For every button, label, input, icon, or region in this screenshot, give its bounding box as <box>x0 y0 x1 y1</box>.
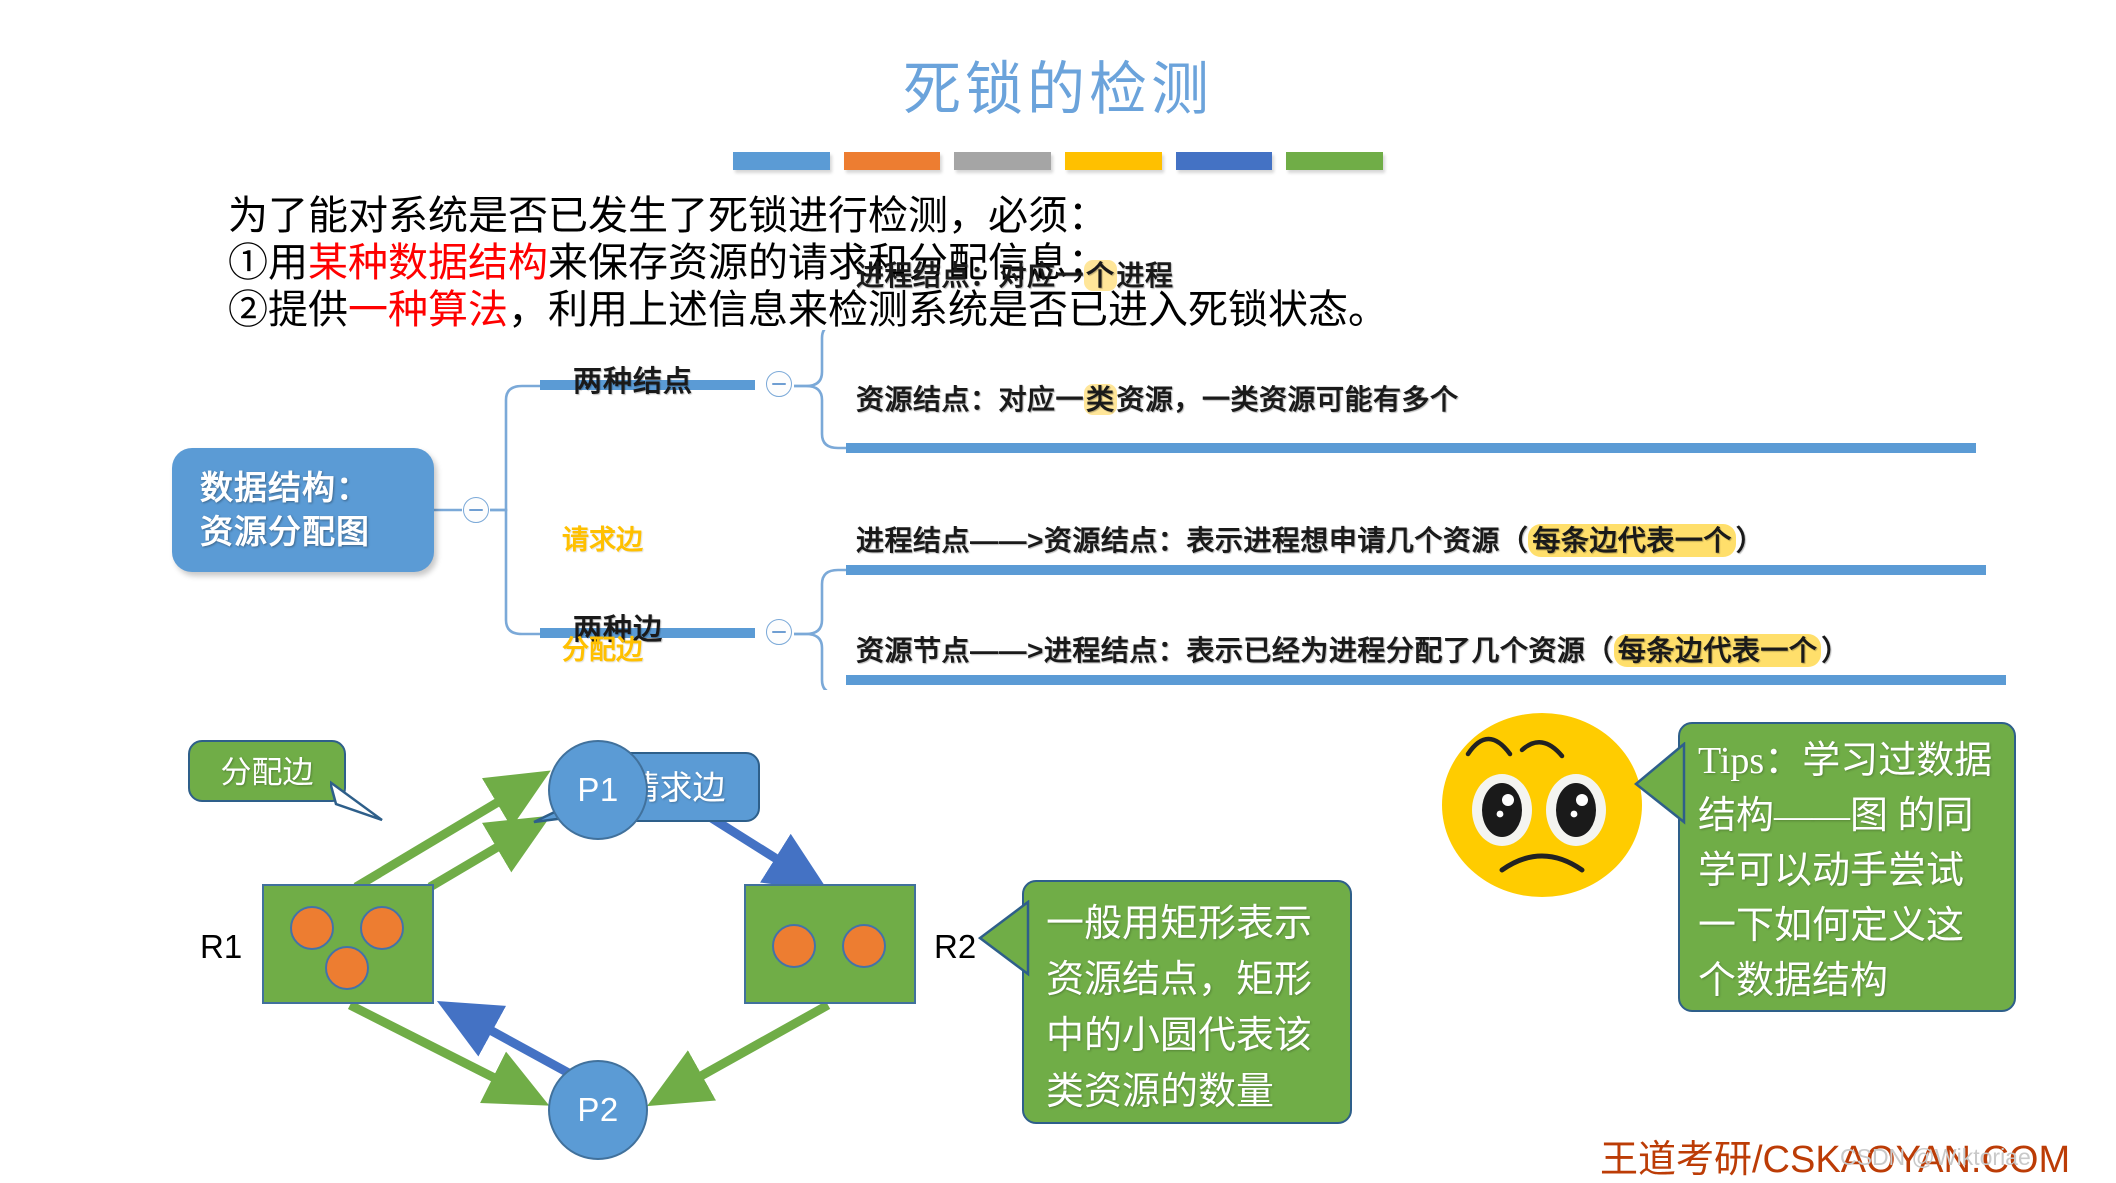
leaf-assign-highlight: 每条边代表一个 <box>1614 634 1822 667</box>
tips-line-5: 个数据结构 <box>1698 954 2014 1009</box>
tips-line-4: 一下如何定义这 <box>1698 899 2014 954</box>
process-node-p1[interactable]: P1 <box>548 740 648 840</box>
resource-unit-dot <box>360 906 404 950</box>
callout-tips-text: Tips：学习过数据 结构——图 的同 学可以动手尝试 一下如何定义这 个数据结… <box>1680 724 2014 1009</box>
intro-line-2-prefix: ①用 <box>228 240 308 285</box>
title-bar-blue <box>733 152 830 170</box>
title-bar-navy <box>1176 152 1273 170</box>
resource-node-r2-label: R2 <box>934 928 976 966</box>
callout-assign-tail <box>330 780 390 826</box>
resource-node-r2[interactable] <box>744 884 916 1004</box>
process-node-p2[interactable]: P2 <box>548 1060 648 1160</box>
title-bar-yellow <box>1065 152 1162 170</box>
mindmap-branch-two-node-types[interactable]: 两种结点 <box>573 358 693 400</box>
page-title: 死锁的检测 <box>0 42 2116 126</box>
mindmap-leaf-assign-edge[interactable]: 资源节点——>进程结点：表示已经为进程分配了几个资源（每条边代表一个） <box>856 629 1850 669</box>
tips-line-2: 结构——图 的同 <box>1698 789 2014 844</box>
title-decorative-bars <box>733 152 1383 170</box>
leaf-request-text-a: 进程结点——>资源结点：表示进程想申请几个资源（ <box>856 525 1528 556</box>
callout-rect-line-1: 一般用矩形表示 <box>1046 896 1350 952</box>
collapse-toggle-root-icon[interactable] <box>463 497 489 523</box>
tips-line-3: 学可以动手尝试 <box>1698 844 2014 899</box>
callout-rectangle-explanation: 一般用矩形表示 资源结点，矩形 中的小圆代表该 类资源的数量 <box>1022 880 1352 1124</box>
mindmap-tag-request-edge: 请求边 <box>562 518 643 557</box>
leaf-resource-text-b: 资源，一类资源可能有多个 <box>1117 384 1459 415</box>
resource-unit-dot <box>290 906 334 950</box>
process-node-p2-label: P2 <box>577 1091 618 1129</box>
intro-line-3-highlight: 一种算法 <box>348 287 508 332</box>
tips-line-1: Tips：学习过数据 <box>1698 734 2014 789</box>
leaf-request-highlight: 每条边代表一个 <box>1528 524 1736 557</box>
confused-face-icon <box>1430 710 1654 900</box>
callout-assign-edge: 分配边 <box>188 740 346 802</box>
leaf-request-text-b: ） <box>1736 525 1765 556</box>
mindmap-root-node[interactable]: 数据结构： 资源分配图 <box>172 448 434 572</box>
callout-assign-edge-label: 分配边 <box>190 742 344 804</box>
leaf-process-highlight: 个 <box>1084 260 1117 291</box>
leaf-process-text-b: 进程 <box>1117 260 1174 291</box>
intro-line-2-highlight: 某种数据结构 <box>308 240 548 285</box>
callout-rectangle-tail <box>978 900 1030 980</box>
title-bar-gray <box>954 152 1051 170</box>
resource-node-r1[interactable] <box>262 884 434 1004</box>
resource-unit-dot <box>325 946 369 990</box>
resource-unit-dot <box>772 924 816 968</box>
mindmap-root-line-2: 资源分配图 <box>200 510 434 554</box>
intro-line-1: 为了能对系统是否已发生了死锁进行检测，必须： <box>228 192 1728 239</box>
resource-unit-dot <box>842 924 886 968</box>
footer-watermark: CSDN @Wiktoriae <box>1840 1144 2031 1171</box>
mindmap-root-line-1: 数据结构： <box>200 466 434 510</box>
mindmap-leaf-resource-node[interactable]: 资源结点：对应一类资源，一类资源可能有多个 <box>856 378 1459 418</box>
title-bar-orange <box>844 152 941 170</box>
collapse-toggle-nodes-icon[interactable] <box>766 371 792 397</box>
callout-rect-line-4: 类资源的数量 <box>1046 1064 1350 1120</box>
resource-node-r1-label: R1 <box>200 928 242 966</box>
leaf-resource-text-a: 资源结点：对应一 <box>856 384 1084 415</box>
collapse-toggle-edges-icon[interactable] <box>766 619 792 645</box>
mindmap-leaf-process-node[interactable]: 进程结点：对应一个进程 <box>856 254 1174 294</box>
callout-tips: Tips：学习过数据 结构——图 的同 学可以动手尝试 一下如何定义这 个数据结… <box>1678 722 2016 1012</box>
leaf-assign-text-a: 资源节点——>进程结点：表示已经为进程分配了几个资源（ <box>856 635 1614 666</box>
leaf-assign-text-b: ） <box>1821 635 1850 666</box>
callout-tips-tail <box>1634 742 1686 828</box>
process-node-p1-label: P1 <box>577 771 618 809</box>
callout-rect-line-3: 中的小圆代表该 <box>1046 1008 1350 1064</box>
mindmap-leaf-request-edge[interactable]: 进程结点——>资源结点：表示进程想申请几个资源（每条边代表一个） <box>856 519 1764 559</box>
title-bar-green <box>1286 152 1383 170</box>
callout-rectangle-explanation-text: 一般用矩形表示 资源结点，矩形 中的小圆代表该 类资源的数量 <box>1024 882 1350 1120</box>
intro-line-3-prefix: ②提供 <box>228 287 348 332</box>
leaf-resource-highlight: 类 <box>1084 384 1117 415</box>
callout-rect-line-2: 资源结点，矩形 <box>1046 952 1350 1008</box>
mindmap-tag-assign-edge: 分配边 <box>562 628 643 667</box>
leaf-process-text-a: 进程结点：对应一 <box>856 260 1084 291</box>
